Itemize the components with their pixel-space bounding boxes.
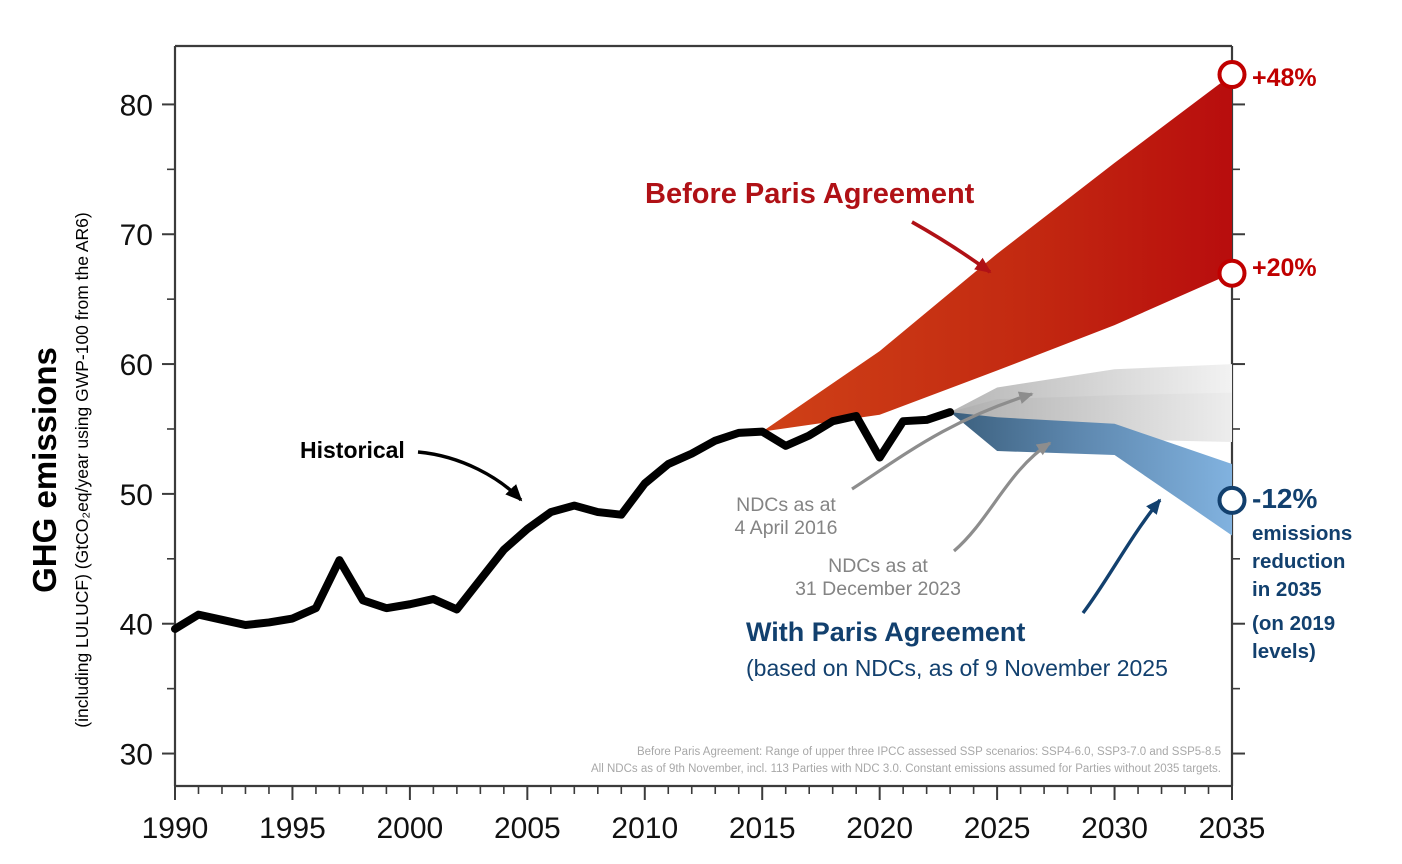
- y-tick-label-60: 60: [120, 349, 153, 382]
- y-tick-label-50: 50: [120, 479, 153, 512]
- x-axis-ticks: [175, 786, 1232, 800]
- annotation-with-paris-sub: (based on NDCs, as of 9 November 2025: [746, 655, 1168, 681]
- y-axis-title: GHG emissions: [26, 347, 63, 593]
- marker-label-minus12: -12%: [1252, 483, 1317, 514]
- with-paris-arrow: [1083, 500, 1160, 613]
- endpoint-marker-minus12: [1220, 488, 1245, 513]
- x-tick-label-2015: 2015: [729, 812, 796, 845]
- y-axis-tick-labels: 304050607080: [120, 89, 153, 771]
- y-axis-ticks: [162, 104, 175, 753]
- y-tick-label-40: 40: [120, 609, 153, 642]
- marker-sub-emissions: emissions: [1252, 522, 1352, 545]
- annotation-before-paris: Before Paris Agreement: [645, 178, 975, 210]
- annotation-with-paris: With Paris Agreement: [746, 617, 1025, 647]
- marker-label-plus48: +48%: [1252, 64, 1317, 92]
- x-tick-label-1995: 1995: [259, 812, 326, 845]
- y-tick-label-30: 30: [120, 739, 153, 772]
- annotation-ndc-2023-line1: NDCs as at: [828, 555, 928, 577]
- x-tick-label-2000: 2000: [377, 812, 444, 845]
- marker-sub-reduction: reduction: [1252, 550, 1345, 573]
- endpoint-marker-plus48: [1220, 62, 1245, 87]
- y-tick-label-80: 80: [120, 89, 153, 122]
- marker-sub-on-2019: (on 2019: [1252, 612, 1335, 635]
- x-axis-tick-labels: 1990199520002005201020152020202520302035: [142, 812, 1266, 845]
- marker-sub-levels: levels): [1252, 640, 1316, 663]
- x-tick-label-2035: 2035: [1199, 812, 1266, 845]
- endpoint-marker-plus20: [1220, 261, 1245, 286]
- annotation-historical: Historical: [300, 437, 405, 463]
- y-axis-ticks-right: [1232, 104, 1245, 753]
- footnote-line-2: All NDCs as of 9th November, incl. 113 P…: [591, 763, 1221, 775]
- x-tick-label-2020: 2020: [846, 812, 913, 845]
- x-tick-label-2005: 2005: [494, 812, 561, 845]
- ghg-emissions-chart: 304050607080 199019952000200520102015202…: [0, 0, 1402, 864]
- x-tick-label-1990: 1990: [142, 812, 209, 845]
- annotation-ndc-2023-line2: 31 December 2023: [795, 578, 961, 600]
- x-tick-label-2025: 2025: [964, 812, 1031, 845]
- before-paris-arrow: [912, 222, 990, 272]
- y-tick-label-70: 70: [120, 219, 153, 252]
- ndc-2023-arrow: [954, 443, 1050, 551]
- x-tick-label-2010: 2010: [611, 812, 678, 845]
- annotation-ndc-2016-line1: NDCs as at: [736, 494, 836, 516]
- y-axis-subtitle: (including LULUCF) (GtCO₂eq/year using G…: [72, 212, 92, 727]
- footnote-line-1: Before Paris Agreement: Range of upper t…: [637, 746, 1221, 758]
- data-bands: [762, 75, 1232, 536]
- historical-arrow: [418, 452, 521, 500]
- annotation-ndc-2016-line2: 4 April 2016: [735, 517, 838, 539]
- chart-svg: 304050607080 199019952000200520102015202…: [0, 0, 1402, 864]
- x-tick-label-2030: 2030: [1081, 812, 1148, 845]
- marker-label-plus20: +20%: [1252, 254, 1317, 282]
- marker-sub-in-2035: in 2035: [1252, 578, 1322, 601]
